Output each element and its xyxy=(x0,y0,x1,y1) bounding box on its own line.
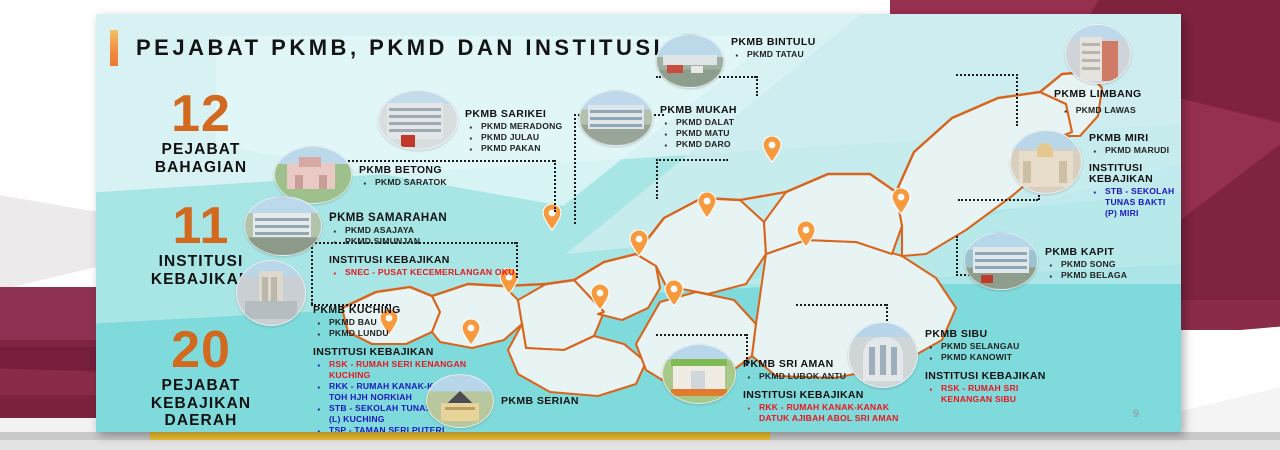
photo-miri xyxy=(1010,130,1082,194)
callout-offices: PKMD LUBOK ANTU xyxy=(743,371,913,382)
callout-offices: PKMD ASAJAYA PKMD SIMUNJAN xyxy=(329,225,515,247)
page-number: 9 xyxy=(1133,408,1139,420)
callout-institutions: RSK - RUMAH SRI KENANGAN SIBU xyxy=(925,383,1057,405)
connector-mukah-v xyxy=(656,159,658,199)
map-pin-mukah[interactable] xyxy=(697,192,717,219)
office-item: PKMD SONG xyxy=(1045,259,1127,270)
photo-samarahan xyxy=(244,196,322,256)
connector-limbang-h xyxy=(956,74,1018,76)
institution-item: RKK - RUMAH KANAK-KANAK DATUK AJIBAH ABO… xyxy=(743,402,913,424)
callout-offices: PKMD MARUDI xyxy=(1089,145,1181,156)
photo-kuching xyxy=(236,260,306,326)
photo-sri-aman xyxy=(662,344,736,404)
institution-heading: INSTITUSI KEBAJIKAN xyxy=(743,389,913,401)
callout-title: PKMB SERIAN xyxy=(501,395,579,407)
connector-kapit-v xyxy=(956,236,958,276)
callout-offices: PKMD SELANGAU PKMD KANOWIT xyxy=(925,341,1057,363)
office-item: PKMD SELANGAU xyxy=(925,341,1057,352)
photo-kapit xyxy=(964,232,1038,290)
map-pin-kapit[interactable] xyxy=(796,221,816,248)
stat-label-line2: BAHAGIAN xyxy=(106,159,296,176)
photo-bintulu xyxy=(656,34,724,88)
callout-institutions: STB - SEKOLAH TUNAS BAKTI (P) MIRI xyxy=(1089,186,1181,219)
office-item: PKMD ASAJAYA xyxy=(329,225,515,236)
callout-title: PKMB SARIKEI xyxy=(465,108,562,120)
office-item: PKMD MATU xyxy=(660,128,737,139)
map-pin-betong[interactable] xyxy=(542,204,562,231)
office-item: PKMD JULAU xyxy=(465,132,562,143)
callout-title: PKMB MUKAH xyxy=(660,104,737,116)
institution-heading: INSTITUSI KEBAJIKAN xyxy=(313,346,471,358)
office-item: PKMD BELAGA xyxy=(1045,270,1127,281)
institution-heading: INSTITUSI KEBAJIKAN xyxy=(925,370,1057,382)
callout-serian[interactable]: PKMB SERIAN xyxy=(426,374,579,428)
connector-samarahan-v xyxy=(516,242,518,278)
callout-title: PKMB SRI AMAN xyxy=(743,358,913,370)
stat-label-line1: PEJABAT xyxy=(106,141,296,158)
callout-offices: PKMD DALAT PKMD MATU PKMD DARO xyxy=(660,117,737,150)
callout-offices: PKMD SONG PKMD BELAGA xyxy=(1045,259,1127,281)
institution-heading: INSTITUSI KEBAJIKAN xyxy=(1089,163,1181,185)
office-item: PKMD BAU xyxy=(313,317,471,328)
callout-title: PKMB KUCHING xyxy=(313,304,471,316)
callout-offices: PKMD LAWAS xyxy=(1060,105,1136,116)
map-pin-sibu[interactable] xyxy=(664,280,684,307)
office-item: PKMD LUNDU xyxy=(313,328,471,339)
callout-sri-aman[interactable]: PKMB SRI AMAN PKMD LUBOK ANTU INSTITUSI … xyxy=(662,344,913,424)
connector-limbang-v xyxy=(1016,74,1018,126)
callout-institutions: RKK - RUMAH KANAK-KANAK DATUK AJIBAH ABO… xyxy=(743,402,913,424)
map-pin-miri[interactable] xyxy=(891,188,911,215)
callout-offices: PKMD MERADONG PKMD JULAU PKMD PAKAN xyxy=(465,121,562,154)
callout-bintulu[interactable]: PKMB BINTULU PKMD TATAU xyxy=(656,34,816,88)
office-item: PKMD LUBOK ANTU xyxy=(743,371,913,382)
callout-sarikei[interactable]: PKMB SARIKEI PKMD MERADONG PKMD JULAU PK… xyxy=(378,90,562,154)
callout-title: PKMB SAMARAHAN xyxy=(329,212,515,224)
callout-title: PKMB MIRI xyxy=(1089,132,1181,144)
callout-title: PKMB LIMBANG xyxy=(1054,88,1142,100)
map-pin-sarikei[interactable] xyxy=(629,230,649,257)
office-item: PKMD MERADONG xyxy=(465,121,562,132)
office-item: PKMD PAKAN xyxy=(465,143,562,154)
photo-mukah xyxy=(579,90,653,146)
office-item: PKMD SIMUNJAN xyxy=(329,236,515,247)
office-item: PKMD DARO xyxy=(660,139,737,150)
institution-item: STB - SEKOLAH TUNAS BAKTI (P) MIRI xyxy=(1089,186,1177,219)
office-item: PKMD TATAU xyxy=(731,49,816,60)
callout-offices: PKMD SARATOK xyxy=(359,177,447,188)
callout-miri[interactable]: PKMB MIRI PKMD MARUDI INSTITUSI KEBAJIKA… xyxy=(1010,130,1181,219)
institution-item: RSK - RUMAH SRI KENANGAN SIBU xyxy=(925,383,1057,405)
map-pin-sri-aman[interactable] xyxy=(590,284,610,311)
stat-number: 12 xyxy=(106,90,296,139)
map-pin-bintulu[interactable] xyxy=(762,136,782,163)
office-item: PKMD MARUDI xyxy=(1089,145,1181,156)
callout-title: PKMB KAPIT xyxy=(1045,246,1127,258)
title-accent-bar xyxy=(110,30,118,66)
connector-sri-aman-h xyxy=(656,334,746,336)
callout-limbang[interactable]: PKMB LIMBANG PKMD LAWAS xyxy=(1054,24,1142,118)
callout-kapit[interactable]: PKMB KAPIT PKMD SONG PKMD BELAGA xyxy=(964,232,1127,290)
callout-title: PKMB SIBU xyxy=(925,328,1057,340)
connector-sibu-h xyxy=(796,304,886,306)
connector-sarikei-v xyxy=(574,114,576,224)
callout-mukah[interactable]: PKMB MUKAH PKMD DALAT PKMD MATU PKMD DAR… xyxy=(579,90,737,150)
office-item: PKMD KANOWIT xyxy=(925,352,1057,363)
connector-mukah-h xyxy=(656,159,728,161)
stat-block-pejabat-bahagian: 12 PEJABAT BAHAGIAN xyxy=(106,90,296,176)
callout-title: PKMB BINTULU xyxy=(731,36,816,48)
slide-card: PEJABAT PKMB, PKMD DAN INSTITUSI xyxy=(96,14,1181,432)
bg-bottom-band-2 xyxy=(0,440,1280,450)
callout-offices: PKMD TATAU xyxy=(731,49,816,60)
office-item: PKMD DALAT xyxy=(660,117,737,128)
callout-title: PKMB BETONG xyxy=(359,164,447,176)
callout-offices: PKMD BAU PKMD LUNDU xyxy=(313,317,471,339)
photo-sarikei xyxy=(378,90,458,150)
connector-betong-v xyxy=(554,160,556,212)
photo-limbang xyxy=(1065,24,1131,84)
office-item: PKMD LAWAS xyxy=(1060,105,1136,116)
office-item: PKMD SARATOK xyxy=(359,177,447,188)
region-bintulu xyxy=(764,174,902,254)
photo-serian xyxy=(426,374,494,428)
